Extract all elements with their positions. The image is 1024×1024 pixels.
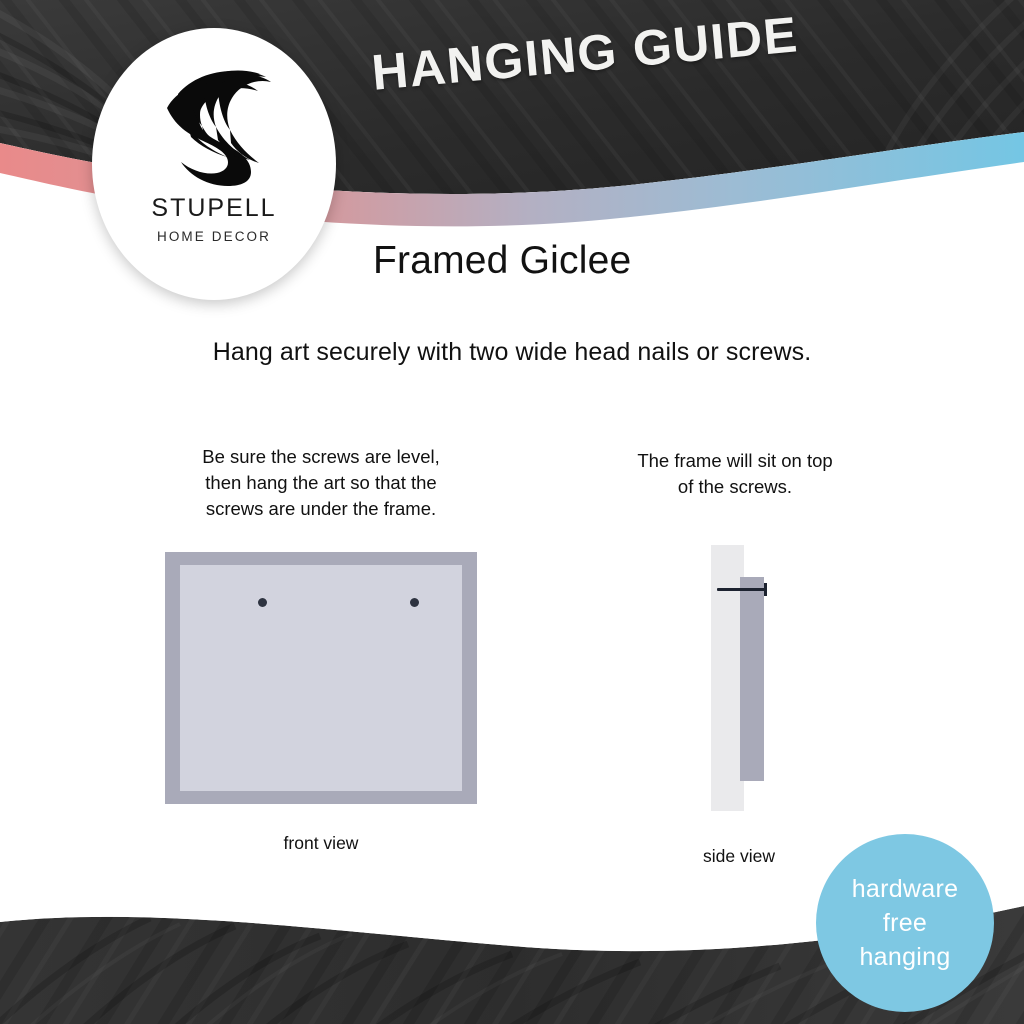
brand-logo-badge: STUPELL HOME DECOR	[92, 28, 336, 300]
front-view-caption: Be sure the screws are level, then hang …	[140, 444, 502, 522]
front-view-frame-diagram	[165, 552, 477, 804]
screw-dot-left	[258, 598, 267, 607]
badge-line-2: free	[883, 906, 927, 940]
side-view-diagram	[688, 545, 798, 817]
side-caption-line-1: The frame will sit on top	[572, 448, 898, 474]
front-caption-line-2: then hang the art so that the	[140, 470, 502, 496]
front-view-frame-interior	[180, 565, 462, 791]
logo-wordmark: STUPELL	[151, 196, 276, 221]
side-view-caption: The frame will sit on top of the screws.	[572, 448, 898, 500]
badge-line-1: hardware	[852, 872, 959, 906]
side-caption-line-2: of the screws.	[572, 474, 898, 500]
nail-head-icon	[764, 583, 767, 596]
front-caption-line-3: screws are under the frame.	[140, 496, 502, 522]
hanging-guide-page: STUPELL HOME DECOR HANGING GUIDE Framed …	[0, 0, 1024, 1024]
side-view-label: side view	[660, 846, 818, 867]
front-view-label: front view	[165, 833, 477, 854]
stupell-s-swoosh-icon	[154, 64, 274, 186]
nail-shaft-icon	[717, 588, 767, 591]
front-caption-line-1: Be sure the screws are level,	[140, 444, 502, 470]
lead-instruction: Hang art securely with two wide head nai…	[0, 338, 1024, 367]
frame-profile	[740, 577, 764, 781]
hardware-free-hanging-badge: hardware free hanging	[816, 834, 994, 1012]
screw-dot-right	[410, 598, 419, 607]
logo-tagline: HOME DECOR	[157, 230, 271, 244]
badge-line-3: hanging	[859, 940, 950, 974]
page-title: HANGING GUIDE	[369, 0, 892, 102]
product-name: Framed Giclee	[373, 239, 631, 283]
